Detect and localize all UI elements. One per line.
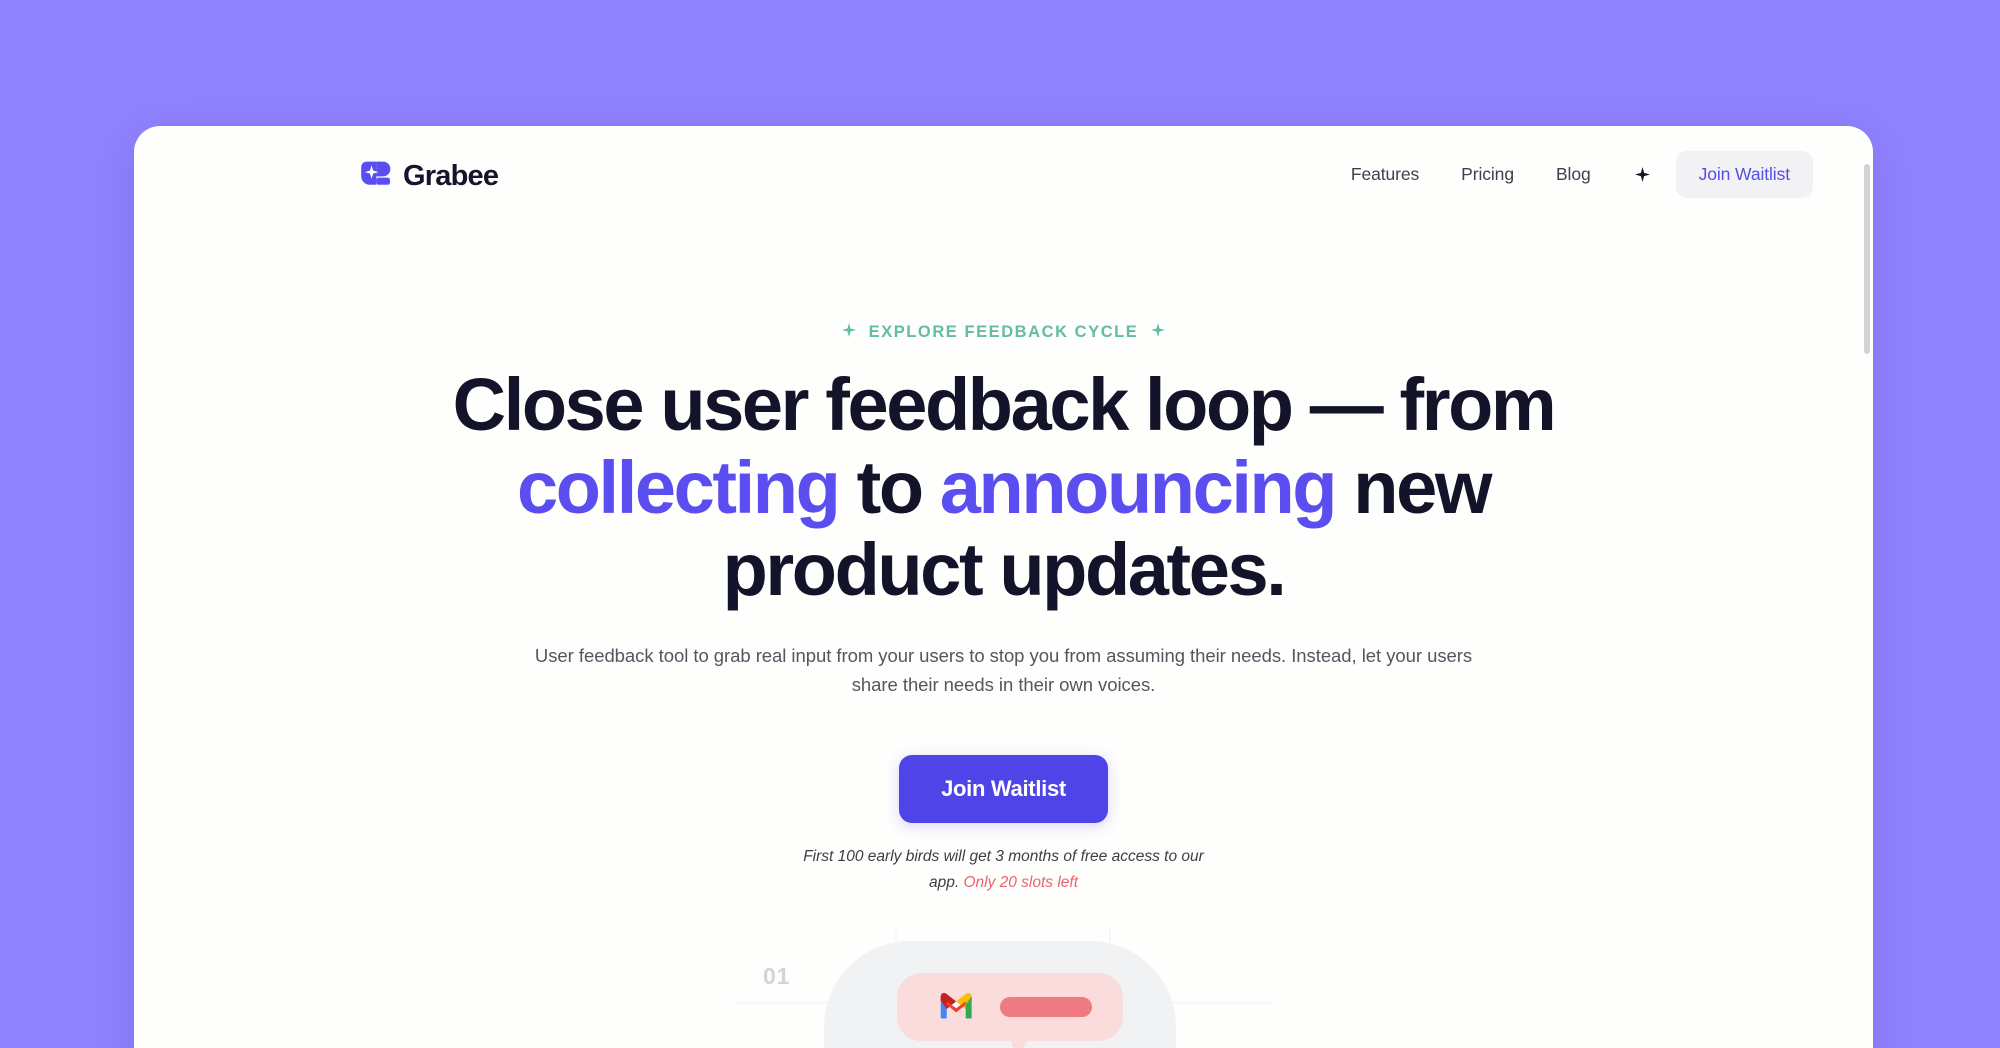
scrollbar-thumb[interactable] — [1864, 164, 1870, 354]
hero-eyebrow: EXPLORE FEEDBACK CYCLE — [134, 323, 1873, 342]
headline-accent-announcing: announcing — [940, 446, 1335, 529]
list-item — [897, 973, 1123, 1048]
illustration-canvas — [134, 929, 1873, 1048]
brand-name: Grabee — [403, 160, 498, 193]
four-point-star-icon — [842, 323, 856, 342]
vertical-scrollbar[interactable] — [1862, 126, 1873, 1048]
brand-logo[interactable]: Grabee — [360, 160, 498, 193]
four-point-star-icon — [1151, 323, 1165, 342]
step-number-01: 01 — [763, 963, 790, 990]
nav-join-waitlist-button[interactable]: Join Waitlist — [1676, 151, 1813, 198]
screen: Grabee Features Pricing Blog Join Waitli… — [0, 0, 2000, 1048]
content-bar — [1000, 997, 1092, 1017]
headline-word-new: new — [1353, 446, 1490, 529]
four-point-star-icon[interactable] — [1626, 157, 1660, 191]
headline-line-1: Close user feedback loop — from — [453, 363, 1555, 446]
hero-join-waitlist-button[interactable]: Join Waitlist — [899, 755, 1108, 823]
fineprint-slots-left: Only 20 slots left — [963, 874, 1078, 891]
nav-item-blog[interactable]: Blog — [1535, 155, 1612, 194]
headline-word-to: to — [857, 446, 922, 529]
hero-fineprint: First 100 early birds will get 3 months … — [789, 844, 1219, 894]
grabee-sparkle-logo-icon — [360, 160, 392, 192]
hero-eyebrow-text: EXPLORE FEEDBACK CYCLE — [869, 323, 1139, 342]
nav-item-pricing[interactable]: Pricing — [1440, 155, 1535, 194]
nav-item-features[interactable]: Features — [1330, 155, 1440, 194]
main-nav: Features Pricing Blog Join Waitlist — [1330, 151, 1813, 198]
headline-line-3: product updates. — [723, 528, 1285, 611]
site-header: Grabee Features Pricing Blog Join Waitli… — [134, 126, 1873, 222]
feedback-cycle-illustration: 01 — [134, 929, 1873, 1048]
hero-subtitle: User feedback tool to grab real input fr… — [530, 641, 1478, 701]
hero-section: EXPLORE FEEDBACK CYCLE Close user feedba… — [134, 222, 1873, 1048]
browser-page-card: Grabee Features Pricing Blog Join Waitli… — [134, 126, 1873, 1048]
page-title: Close user feedback loop — from collecti… — [414, 364, 1594, 612]
headline-accent-collecting: collecting — [517, 446, 838, 529]
